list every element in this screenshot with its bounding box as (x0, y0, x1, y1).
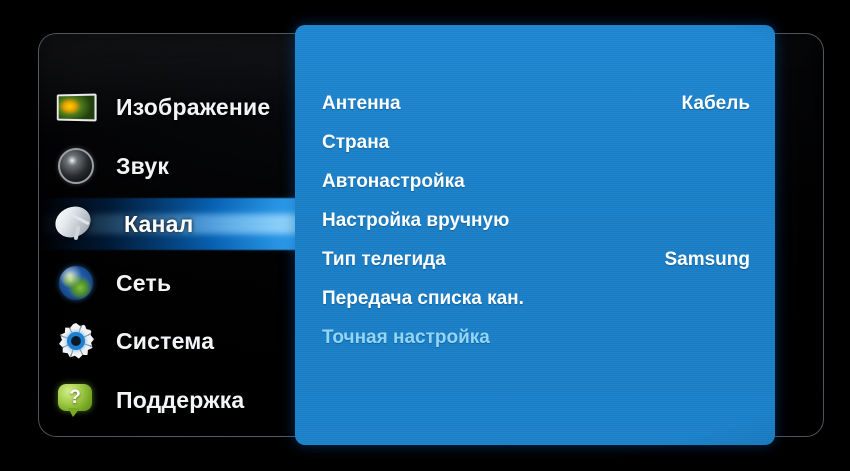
menu-row-fine-tune[interactable]: Точная настройка (295, 319, 775, 357)
sidebar-item-label: Изображение (116, 94, 270, 121)
menu-row-label: Передача списка кан. (322, 288, 524, 310)
sidebar-item-network[interactable]: Сеть (38, 257, 318, 309)
menu-row-antenna[interactable]: Антенна Кабель (295, 85, 775, 123)
tv-screen-photo: Изображение Звук Канал Сеть (0, 0, 850, 471)
sidebar-item-label: Звук (116, 153, 169, 180)
gear-icon (54, 321, 98, 361)
sidebar-item-channel[interactable]: Канал (38, 198, 318, 250)
menu-row-teletext-type[interactable]: Тип телегида Samsung (295, 241, 775, 279)
sidebar-item-label: Поддержка (116, 387, 244, 414)
sidebar-item-picture[interactable]: Изображение (38, 81, 318, 133)
menu-row-value: Кабель (682, 93, 750, 115)
sidebar-item-label: Система (116, 328, 214, 355)
menu-row-country[interactable]: Страна (295, 124, 775, 162)
sidebar-item-label: Сеть (116, 270, 171, 297)
satellite-dish-icon (54, 204, 98, 244)
channel-settings-panel: Антенна Кабель Страна Автонастройка Наст… (295, 25, 775, 445)
menu-row-manual-tuning[interactable]: Настройка вручную (295, 202, 775, 240)
menu-row-value: Samsung (664, 249, 750, 271)
menu-row-label: Страна (322, 132, 389, 154)
menu-row-channel-list-transfer[interactable]: Передача списка кан. (295, 280, 775, 318)
menu-row-label: Точная настройка (322, 327, 490, 349)
menu-row-label: Настройка вручную (322, 210, 509, 232)
menu-row-label: Автонастройка (322, 171, 465, 193)
menu-row-label: Тип телегида (322, 249, 446, 271)
help-bubble-icon: ? (54, 380, 98, 420)
sidebar-item-label: Канал (124, 211, 193, 238)
menu-row-label: Антенна (322, 93, 401, 115)
sidebar-item-system[interactable]: Система (38, 315, 318, 367)
question-mark-glyph: ? (58, 384, 92, 411)
globe-icon (54, 263, 98, 303)
settings-sidebar: Изображение Звук Канал Сеть (38, 33, 318, 437)
sidebar-item-support[interactable]: ? Поддержка (38, 374, 318, 426)
picture-icon (54, 87, 98, 127)
menu-row-auto-tuning[interactable]: Автонастройка (295, 163, 775, 201)
speaker-icon (54, 146, 98, 186)
